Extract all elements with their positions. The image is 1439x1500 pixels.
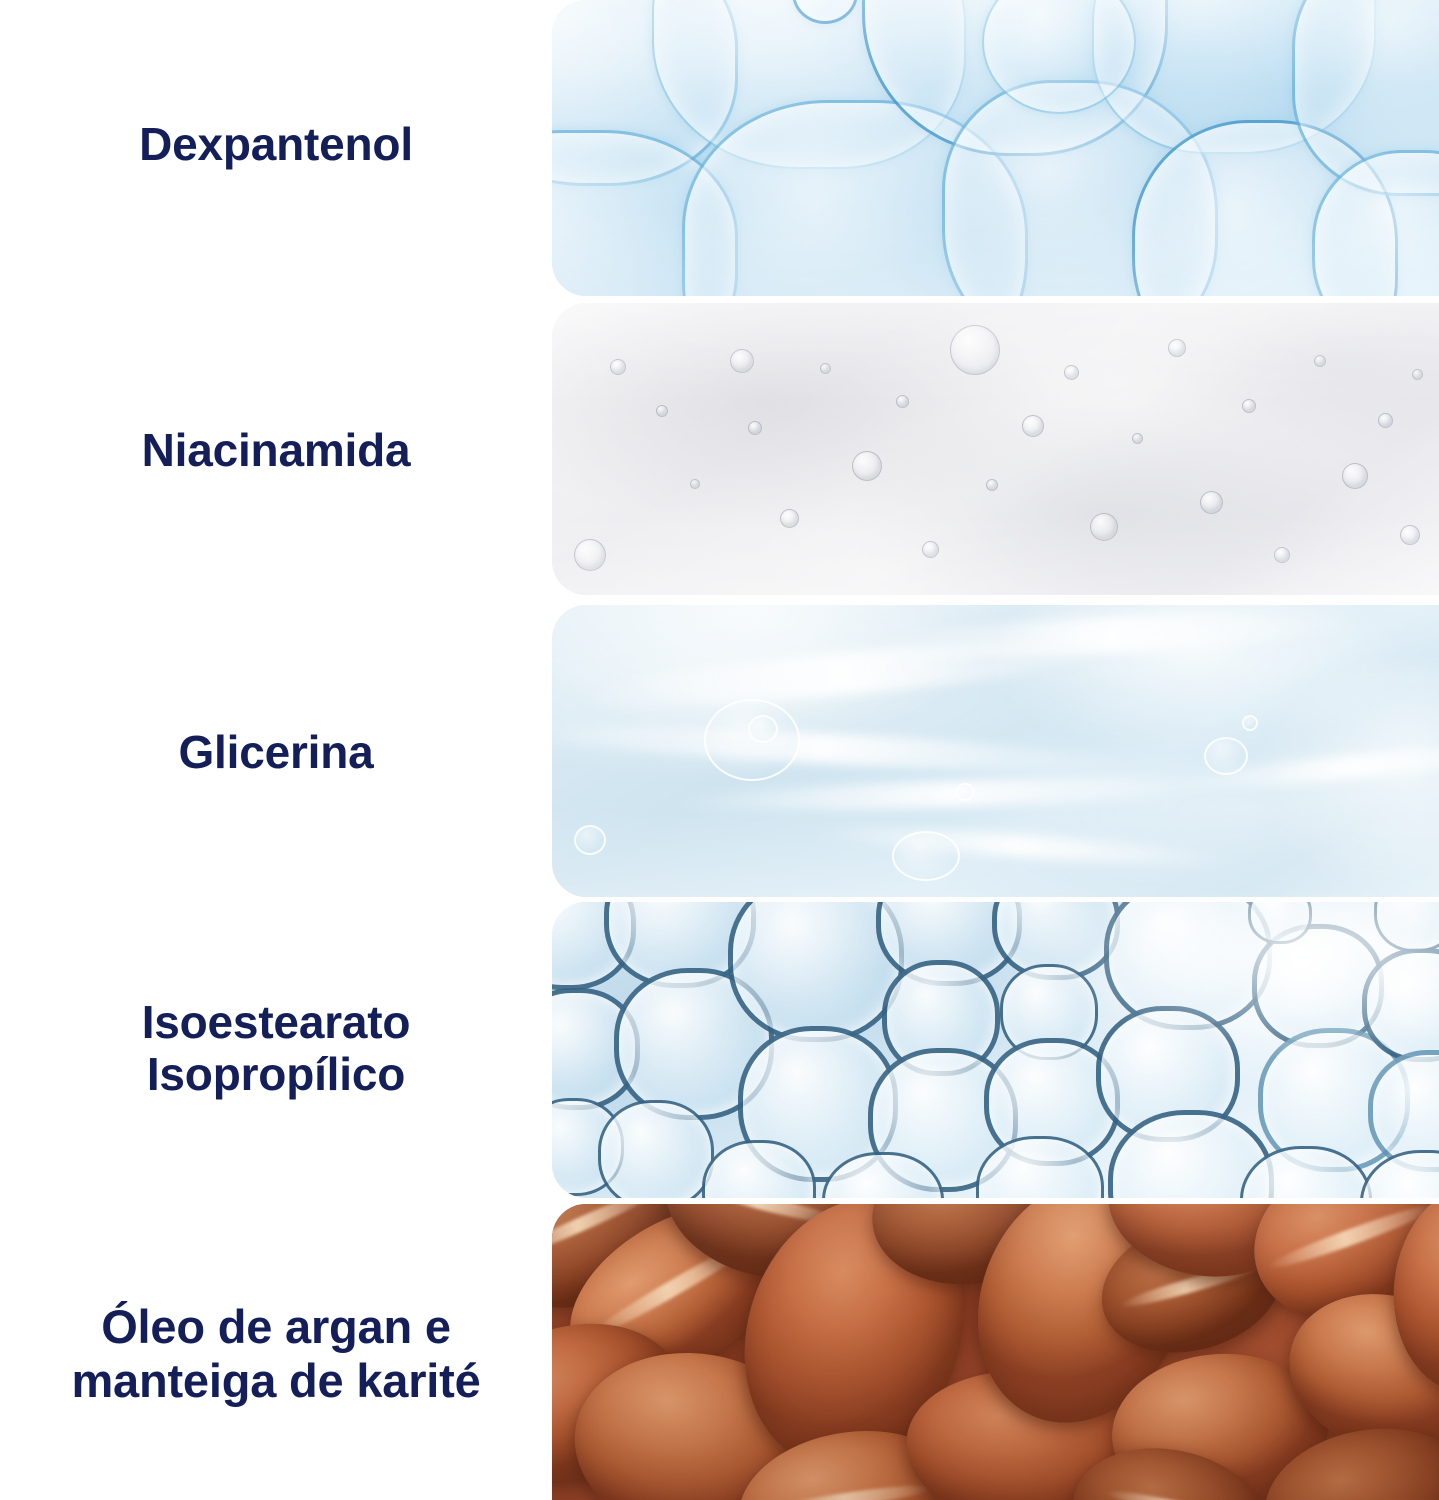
- ingredient-label-dexpantenol: Dexpantenol: [0, 118, 552, 170]
- soap-bubble-film-texture: [552, 0, 1439, 296]
- ingredient-label-niacinamida: Niacinamida: [0, 424, 552, 476]
- foam-bubbles-texture: [552, 902, 1439, 1198]
- ingredient-label-glicerina: Glicerina: [0, 726, 552, 778]
- ingredient-label-oleo-de-argan: Óleo de argan e manteiga de karité: [0, 1300, 552, 1407]
- ingredient-label-isoestearato-isopropilico: Isoestearato Isopropílico: [0, 996, 552, 1101]
- ingredient-label-column: Dexpantenol Niacinamida Glicerina Isoest…: [0, 0, 552, 1500]
- argan-nuts-texture: [552, 1204, 1439, 1500]
- ingredient-image-argan-nuts: [552, 1204, 1439, 1500]
- ingredient-image-foam-bubbles: [552, 902, 1439, 1198]
- ingredient-image-blue-gel-smear: [552, 605, 1439, 897]
- blue-gel-smear-texture: [552, 605, 1439, 897]
- ingredient-image-clear-gel: [552, 303, 1439, 595]
- ingredient-benefits-panel: Dexpantenol Niacinamida Glicerina Isoest…: [0, 0, 1439, 1500]
- clear-gel-texture: [552, 303, 1439, 595]
- ingredient-image-soap-bubble-film: [552, 0, 1439, 296]
